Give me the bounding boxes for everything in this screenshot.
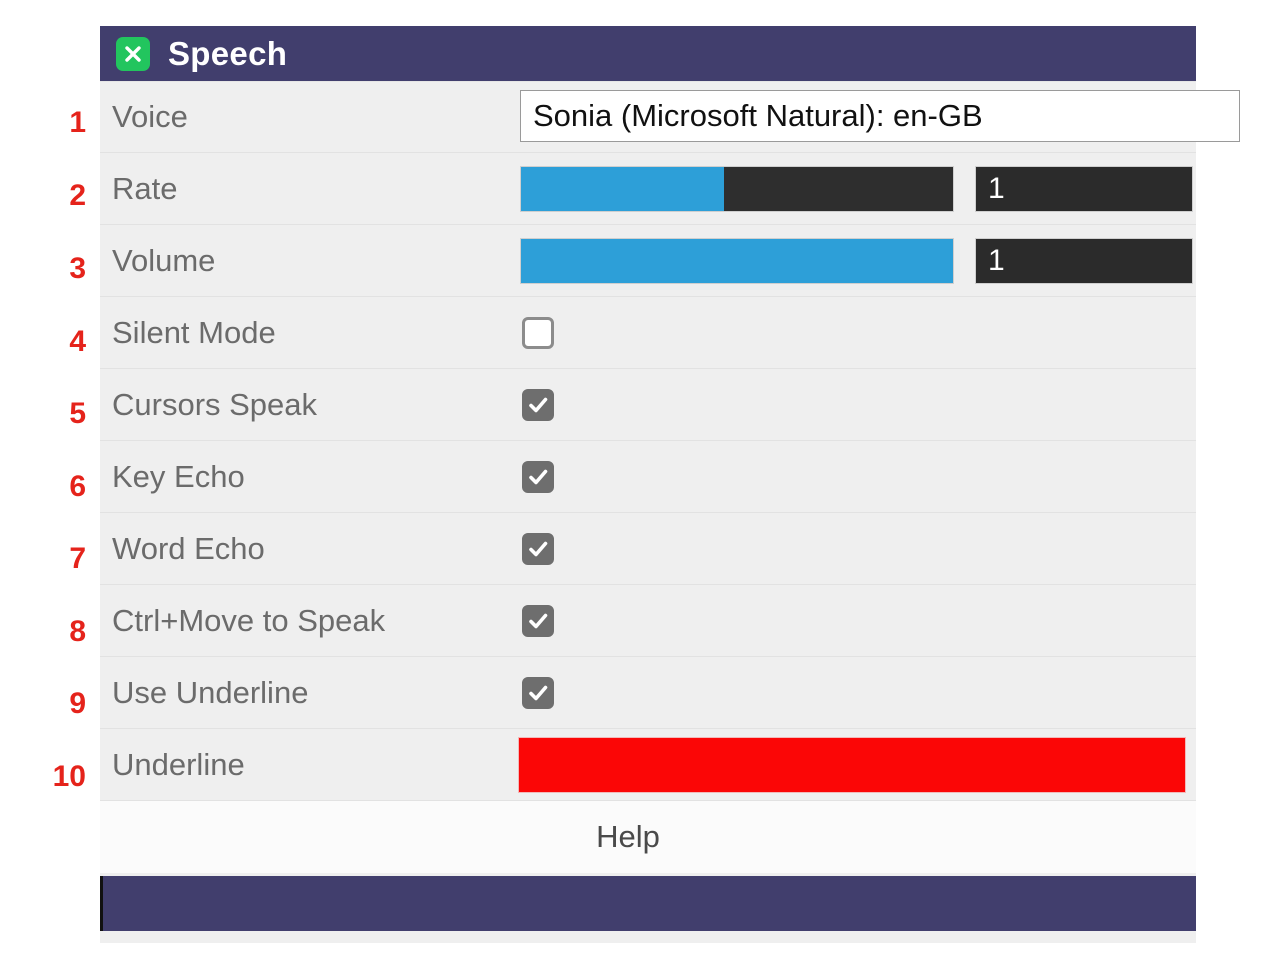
label-word-echo: Word Echo	[112, 531, 265, 567]
silent-mode-checkbox[interactable]	[522, 317, 554, 349]
row-voice: Voice Sonia (Microsoft Natural): en-GB	[100, 81, 1196, 153]
label-cursors-speak: Cursors Speak	[112, 387, 317, 423]
label-underline-color: Underline	[112, 747, 245, 783]
annotation-number-10: 10	[0, 762, 86, 792]
footer-edge-marker	[100, 876, 103, 931]
row-ctrl-move-to-speak: Ctrl+Move to Speak	[100, 585, 1196, 657]
annotation-number-3: 3	[0, 254, 86, 284]
voice-select[interactable]: Sonia (Microsoft Natural): en-GB	[520, 90, 1240, 142]
cursors-speak-checkbox[interactable]	[522, 389, 554, 421]
row-volume: Volume 1	[100, 225, 1196, 297]
help-link[interactable]: Help	[596, 819, 660, 855]
label-rate: Rate	[112, 171, 177, 207]
label-silent-mode: Silent Mode	[112, 315, 276, 351]
volume-value-field[interactable]: 1	[975, 238, 1193, 284]
window-footer	[100, 876, 1196, 931]
speech-settings-panel: Speech Voice Sonia (Microsoft Natural): …	[100, 26, 1196, 943]
annotation-number-1: 1	[0, 108, 86, 138]
annotation-number-8: 8	[0, 617, 86, 647]
annotation-number-7: 7	[0, 544, 86, 574]
word-echo-checkbox[interactable]	[522, 533, 554, 565]
volume-slider-fill	[521, 239, 953, 283]
label-ctrl-move-to-speak: Ctrl+Move to Speak	[112, 603, 385, 639]
row-cursors-speak: Cursors Speak	[100, 369, 1196, 441]
annotation-number-6: 6	[0, 472, 86, 502]
row-silent-mode: Silent Mode	[100, 297, 1196, 369]
volume-slider[interactable]	[520, 238, 954, 284]
row-underline-color: Underline	[100, 729, 1196, 801]
close-x-icon[interactable]	[116, 37, 150, 71]
label-key-echo: Key Echo	[112, 459, 245, 495]
label-volume: Volume	[112, 243, 215, 279]
help-row[interactable]: Help	[100, 801, 1196, 873]
key-echo-checkbox[interactable]	[522, 461, 554, 493]
annotation-number-4: 4	[0, 327, 86, 357]
label-use-underline: Use Underline	[112, 675, 308, 711]
annotation-number-2: 2	[0, 181, 86, 211]
annotation-number-5: 5	[0, 399, 86, 429]
ctrl-move-to-speak-checkbox[interactable]	[522, 605, 554, 637]
screen: 1 2 3 4 5 6 7 8 9 10 Speech Voice Sonia …	[0, 0, 1280, 963]
use-underline-checkbox[interactable]	[522, 677, 554, 709]
row-use-underline: Use Underline	[100, 657, 1196, 729]
settings-rows: Voice Sonia (Microsoft Natural): en-GB R…	[100, 81, 1196, 873]
rate-value-field[interactable]: 1	[975, 166, 1193, 212]
row-word-echo: Word Echo	[100, 513, 1196, 585]
window-title: Speech	[168, 35, 287, 73]
annotation-gutter: 1 2 3 4 5 6 7 8 9 10	[0, 0, 100, 963]
underline-color-swatch[interactable]	[518, 737, 1186, 793]
rate-slider-fill	[521, 167, 724, 211]
window-titlebar: Speech	[100, 26, 1196, 81]
row-key-echo: Key Echo	[100, 441, 1196, 513]
rate-slider[interactable]	[520, 166, 954, 212]
row-rate: Rate 1	[100, 153, 1196, 225]
label-voice: Voice	[112, 99, 188, 135]
annotation-number-9: 9	[0, 689, 86, 719]
